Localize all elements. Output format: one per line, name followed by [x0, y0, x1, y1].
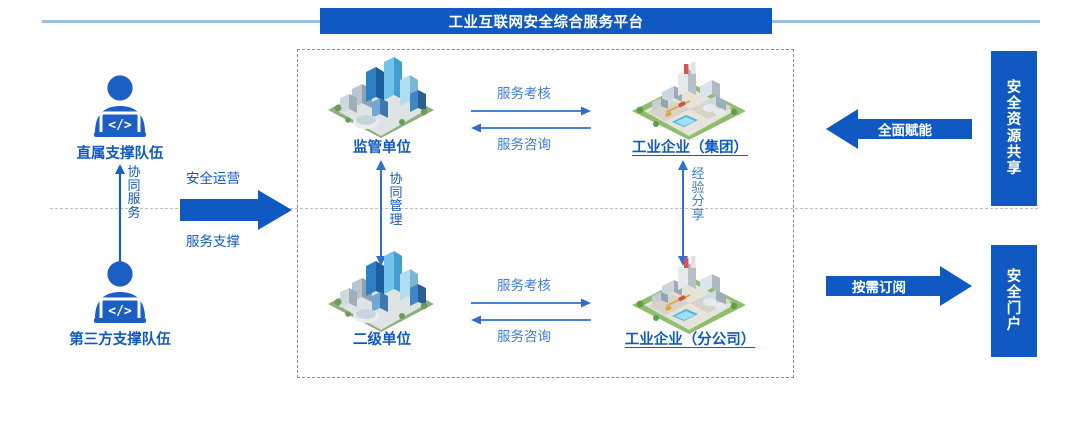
- platform-title: 工业互联网安全综合服务平台: [449, 11, 644, 32]
- isometric-factory-icon: [628, 250, 750, 336]
- collaborative-management-label: 协同管理: [388, 173, 404, 227]
- row2-arrow-label-top: 服务考核: [497, 274, 551, 294]
- node-label-industrial-branch: 工业企业（分公司）: [600, 328, 780, 349]
- security-portal-bar: 安全门户: [991, 245, 1037, 357]
- security-portal-label: 安全门户: [1005, 269, 1023, 334]
- security-operation-bridge-arrow: [180, 190, 292, 230]
- security-resource-sharing-bar: 安全资源共享: [991, 51, 1037, 206]
- isometric-factory-icon: [628, 56, 750, 142]
- header-rule-left: [42, 20, 322, 23]
- header-rule-right: [772, 20, 1040, 23]
- platform-title-bar: 工业互联网安全综合服务平台: [320, 8, 772, 34]
- row2-arrow-backward: [471, 315, 591, 325]
- row2-arrow-label-bottom: 服务咨询: [497, 325, 551, 345]
- node-label-secondary-unit: 二级单位: [308, 328, 456, 349]
- row1-arrow-label-top: 服务考核: [497, 82, 551, 102]
- empowerment-arrow-label: 全面赋能: [878, 119, 932, 139]
- node-label-regulator: 监管单位: [308, 136, 456, 157]
- node-label-direct-support-team: 直属支撑队伍: [20, 142, 220, 163]
- isometric-city-icon: [322, 54, 440, 142]
- diagram-canvas: 工业互联网安全综合服务平台 </> 直属支撑队伍 协同服务 </>: [0, 0, 1080, 426]
- bridge-label-top: 安全运营: [186, 167, 240, 187]
- svg-text:</>: </>: [108, 304, 132, 319]
- row1-arrow-backward: [471, 123, 591, 133]
- collaborative-service-label: 协同服务: [126, 166, 142, 220]
- row2-arrow-forward: [471, 298, 591, 308]
- node-label-industrial-group: 工业企业（集团）: [610, 136, 770, 157]
- security-resource-sharing-label: 安全资源共享: [1005, 80, 1023, 177]
- developer-laptop-icon: </>: [83, 72, 157, 138]
- node-label-third-party-team: 第三方支撑队伍: [20, 328, 220, 349]
- row1-arrow-label-bottom: 服务咨询: [497, 133, 551, 153]
- on-demand-subscription-label: 按需订阅: [852, 276, 906, 296]
- empowerment-arrow: 全面赋能: [826, 108, 972, 150]
- on-demand-subscription-arrow: 按需订阅: [826, 265, 972, 307]
- row1-arrow-forward: [471, 106, 591, 116]
- bridge-label-bottom: 服务支撑: [186, 230, 240, 250]
- developer-laptop-icon: </>: [83, 258, 157, 324]
- experience-sharing-label: 经验分享: [690, 168, 706, 222]
- svg-text:</>: </>: [108, 118, 132, 133]
- isometric-city-icon: [322, 248, 440, 336]
